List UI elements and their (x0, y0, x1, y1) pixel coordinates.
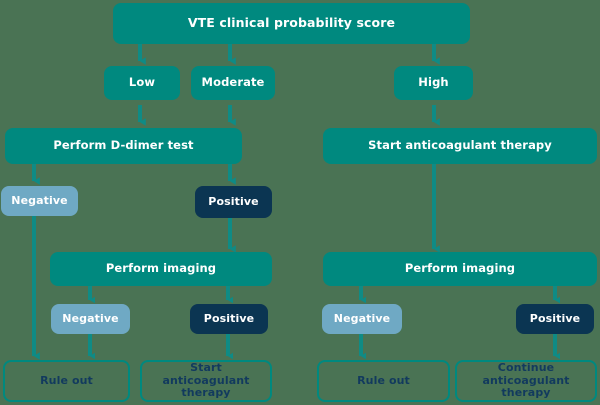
node-perform-imaging-left[interactable]: Perform imaging (50, 252, 272, 286)
node-moderate[interactable]: Moderate (191, 66, 275, 100)
node-label: Perform imaging (401, 262, 519, 275)
node-d-dimer-positive[interactable]: Positive (195, 186, 272, 218)
node-label: High (414, 76, 452, 89)
node-d-dimer-negative[interactable]: Negative (1, 186, 78, 216)
node-outcome-rule-out-left[interactable]: Rule out (3, 360, 130, 402)
node-label: Moderate (198, 76, 269, 89)
node-perform-imaging-right[interactable]: Perform imaging (323, 252, 597, 286)
node-label: Rule out (36, 375, 97, 388)
node-imaging-left-positive[interactable]: Positive (190, 304, 268, 334)
node-label: Negative (58, 313, 122, 326)
node-label: Negative (7, 195, 71, 208)
flowchart-canvas: VTE clinical probability score Low Moder… (0, 0, 600, 405)
node-label: Start anticoagulant therapy (142, 362, 270, 400)
node-label: Low (125, 76, 159, 89)
node-label: Perform imaging (102, 262, 220, 275)
node-label: Positive (204, 196, 262, 209)
node-label: Positive (200, 313, 258, 326)
node-label: Rule out (353, 375, 414, 388)
node-low[interactable]: Low (104, 66, 180, 100)
node-high[interactable]: High (394, 66, 473, 100)
node-start-anticoagulant-therapy[interactable]: Start anticoagulant therapy (323, 128, 597, 164)
node-outcome-continue-anticoagulant-therapy[interactable]: Continue anticoagulant therapy (455, 360, 597, 402)
node-imaging-left-negative[interactable]: Negative (51, 304, 130, 334)
node-label: Positive (526, 313, 584, 326)
node-label: VTE clinical probability score (184, 16, 399, 30)
node-label: Start anticoagulant therapy (364, 139, 556, 152)
flowchart-connectors (0, 0, 600, 405)
node-imaging-right-positive[interactable]: Positive (516, 304, 594, 334)
node-outcome-start-anticoagulant-therapy[interactable]: Start anticoagulant therapy (140, 360, 272, 402)
node-vte-clinical-probability-score[interactable]: VTE clinical probability score (113, 3, 470, 44)
node-label: Continue anticoagulant therapy (457, 362, 595, 400)
node-imaging-right-negative[interactable]: Negative (322, 304, 402, 334)
node-outcome-rule-out-right[interactable]: Rule out (317, 360, 450, 402)
node-label: Negative (330, 313, 394, 326)
node-label: Perform D-dimer test (49, 139, 197, 152)
node-perform-d-dimer-test[interactable]: Perform D-dimer test (5, 128, 242, 164)
